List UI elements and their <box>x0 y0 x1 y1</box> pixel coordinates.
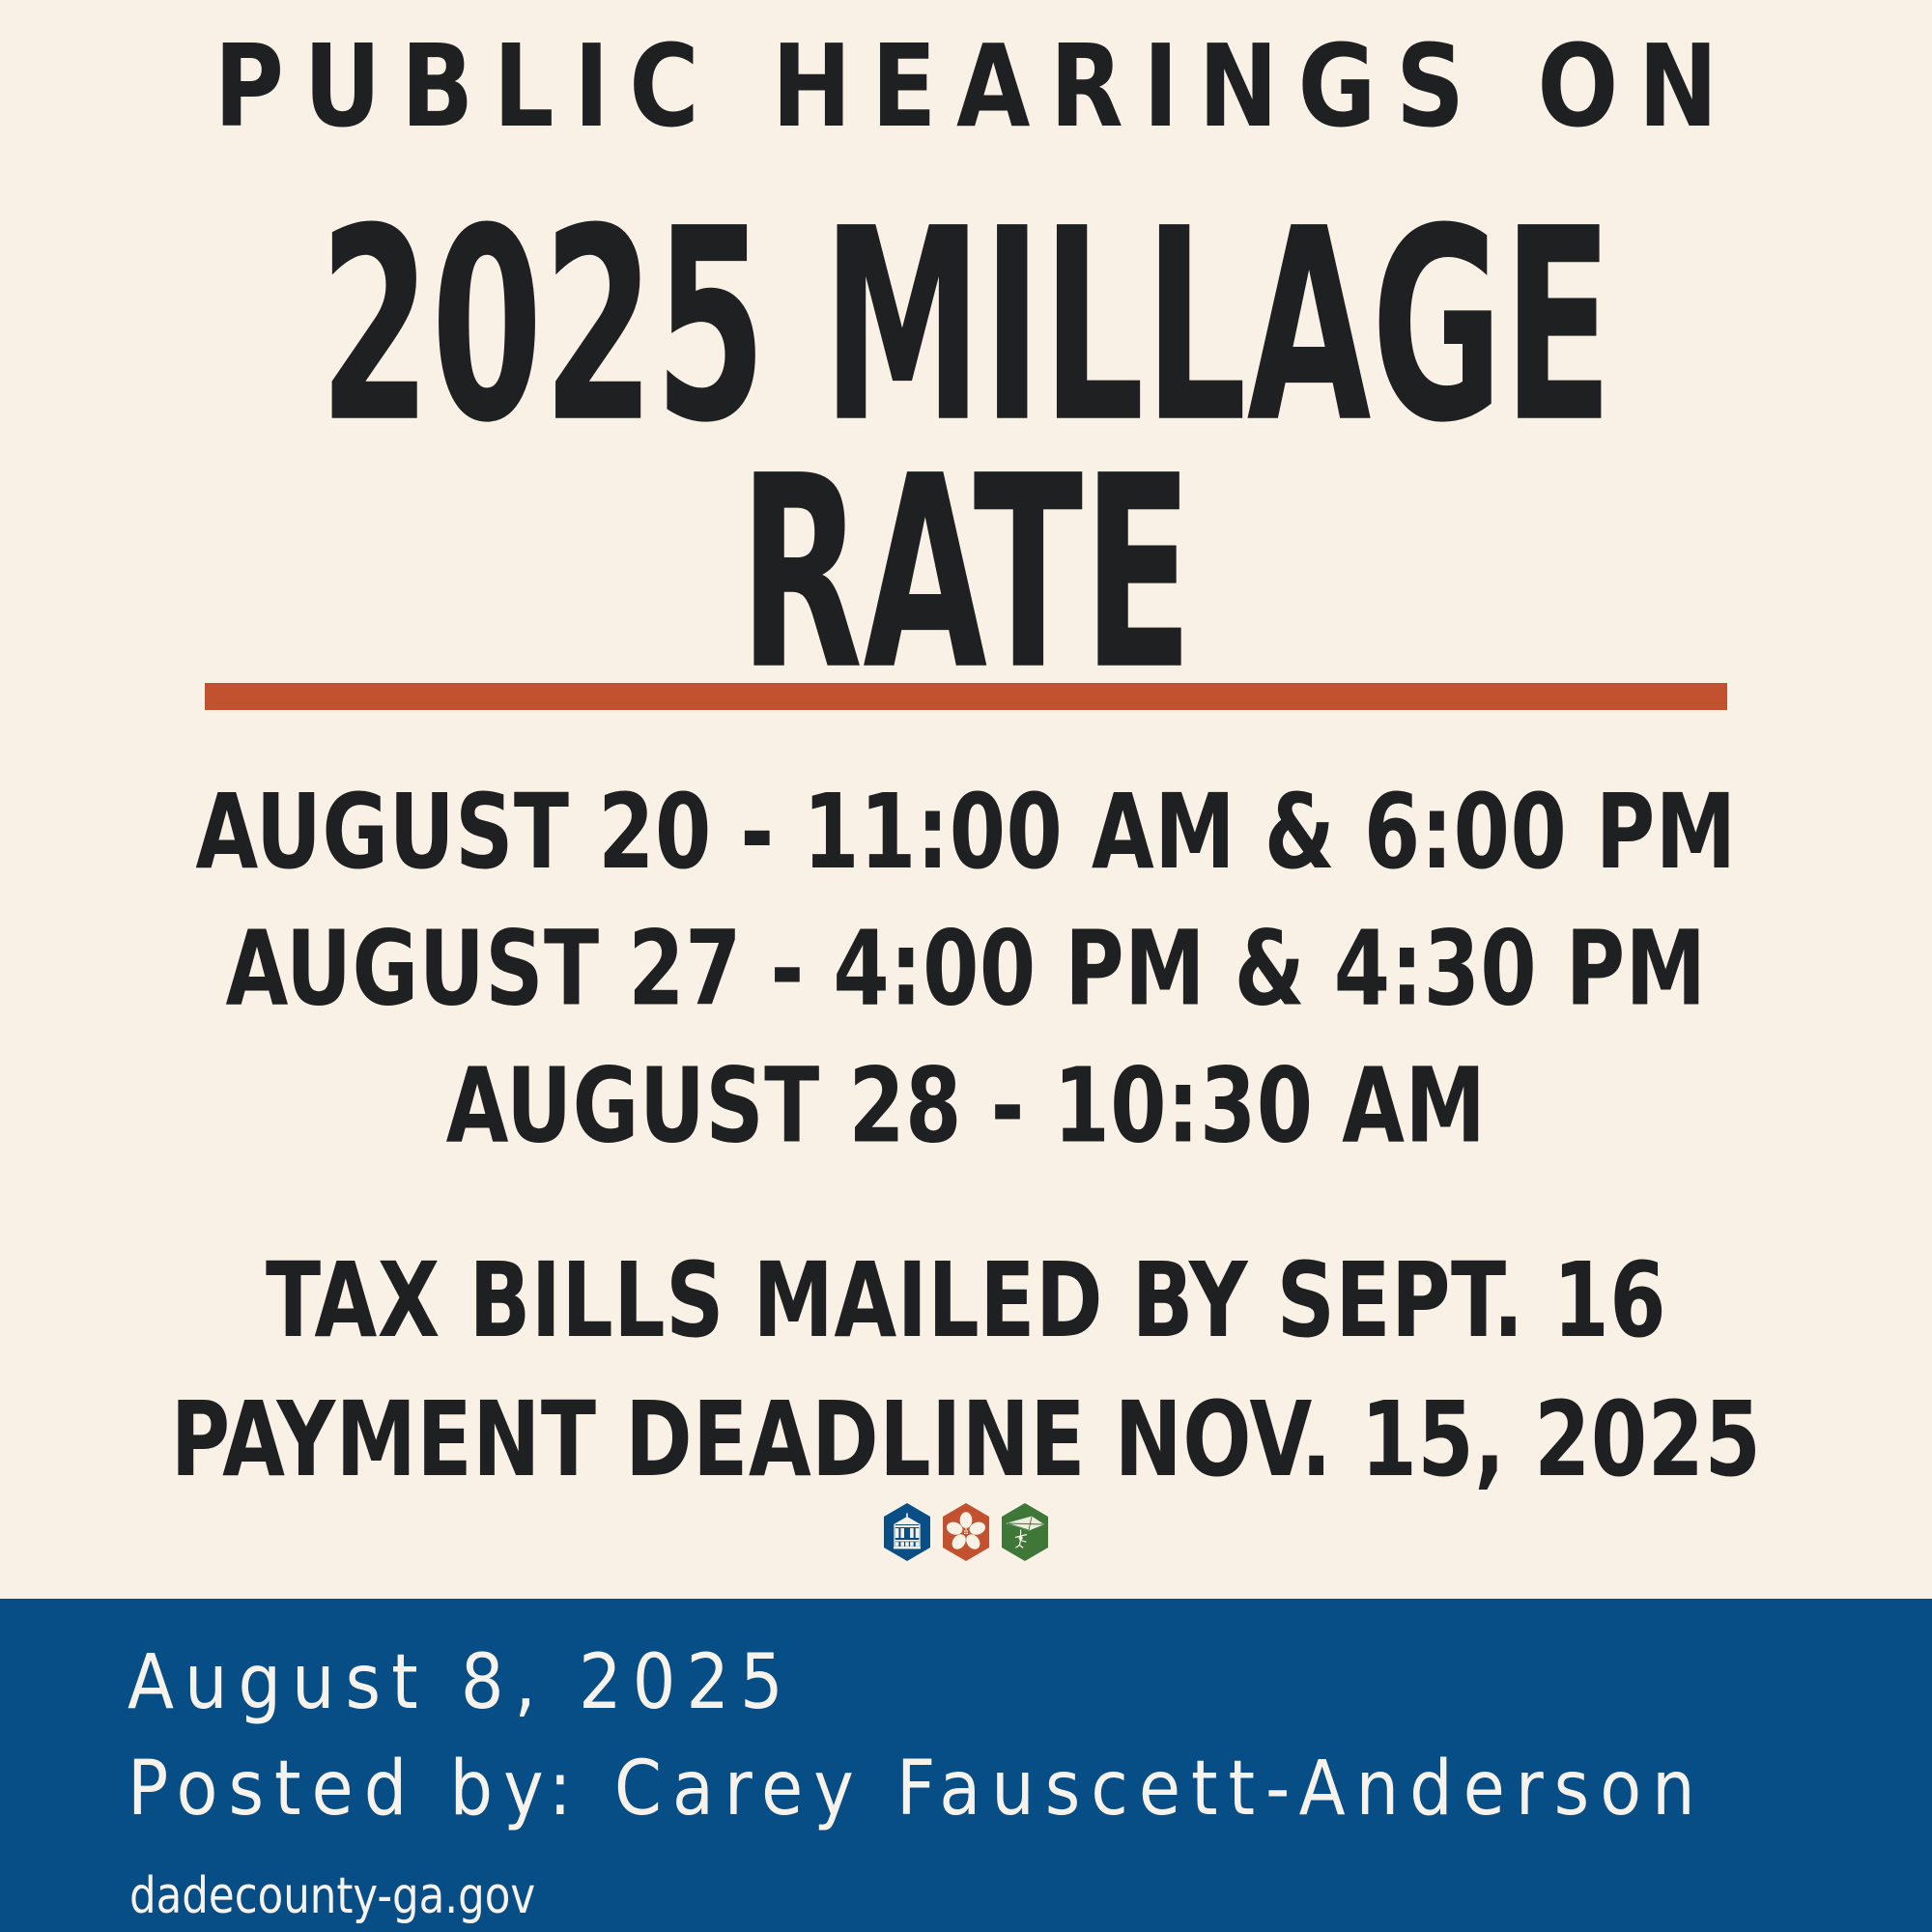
hearing-schedule-item: AUGUST 28 - 10:30 AM <box>95 1037 1838 1175</box>
hang-glider-icon <box>1000 1503 1050 1561</box>
page-eyebrow-heading: PUBLIC HEARINGS ON <box>68 27 1864 147</box>
county-emblem <box>0 1503 1932 1584</box>
tax-notice-item: TAX BILLS MAILED BY SEPT. 16 <box>75 1232 1856 1371</box>
millage-rate-notice-poster: PUBLIC HEARINGS ON 2025 MILLAGE RATE AUG… <box>0 0 1932 1932</box>
tax-notice-list: TAX BILLS MAILED BY SEPT. 16 PAYMENT DEA… <box>75 1232 1856 1510</box>
dogwood-flower-icon <box>941 1503 991 1561</box>
page-title: 2025 MILLAGE RATE <box>251 203 1680 697</box>
emblem-badge-dogwood-flower <box>941 1503 991 1561</box>
footer-website-link[interactable]: dadecounty-ga.gov <box>129 1871 535 1921</box>
emblem-badge-hang-glider <box>1000 1503 1050 1561</box>
page-title-line-1: 2025 MILLAGE <box>251 203 1680 450</box>
tax-notice-item: PAYMENT DEADLINE NOV. 15, 2025 <box>75 1371 1856 1510</box>
accent-divider-rule <box>205 683 1727 710</box>
emblem-badge-courthouse <box>882 1503 932 1561</box>
page-title-line-2: RATE <box>251 450 1680 697</box>
footer-posted-by: Posted by: Carey Fauscett-Anderson <box>128 1751 1706 1827</box>
footer-post-date: August 8, 2025 <box>128 1645 794 1720</box>
hearing-schedule-item: AUGUST 20 - 11:00 AM & 6:00 PM <box>95 763 1838 900</box>
hearing-schedule-list: AUGUST 20 - 11:00 AM & 6:00 PM AUGUST 27… <box>95 763 1838 1175</box>
footer-band: August 8, 2025 Posted by: Carey Fauscett… <box>0 1599 1932 1932</box>
courthouse-icon <box>882 1503 932 1561</box>
hearing-schedule-item: AUGUST 27 - 4:00 PM & 4:30 PM <box>95 900 1838 1037</box>
